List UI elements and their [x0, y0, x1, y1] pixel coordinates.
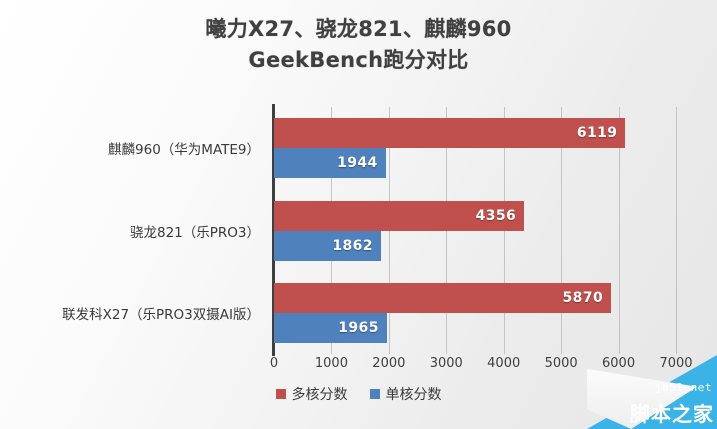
bar-value-label: 6119 [577, 125, 618, 141]
tick-label-1000: 1000 [315, 356, 348, 371]
bar-single-core[interactable]: 1862 [274, 231, 381, 261]
value-axis-tick-labels: 01000200030004000500060007000 [274, 356, 676, 376]
gridline [676, 107, 677, 354]
bar-value-label: 1965 [338, 320, 379, 336]
category-label: 骁龙821（乐PRO3） [130, 221, 260, 241]
category-label: 联发科X27（乐PRO3双摄AI版） [62, 303, 260, 323]
tick-label-6000: 6000 [602, 356, 635, 371]
bar-multi-core[interactable]: 6119 [274, 118, 625, 148]
plot-area: 611919444356186258701965 [274, 107, 676, 354]
tick-label-2000: 2000 [372, 356, 405, 371]
legend-swatch-icon [276, 389, 286, 399]
category-label: 麒麟960（华为MATE9） [108, 138, 260, 158]
tick-label-4000: 4000 [487, 356, 520, 371]
legend-label: 单核分数 [386, 384, 442, 404]
bar-single-core[interactable]: 1965 [274, 313, 387, 343]
legend-label: 多核分数 [292, 384, 348, 404]
category-axis: 麒麟960（华为MATE9）骁龙821（乐PRO3）联发科X27（乐PRO3双摄… [0, 107, 268, 354]
tick-label-3000: 3000 [430, 356, 463, 371]
tick-label-7000: 7000 [659, 356, 692, 371]
bar-value-label: 1944 [337, 155, 378, 171]
chart-title: 曦力X27、骁龙821、麒麟960 GeekBench跑分对比 [0, 14, 717, 76]
chart-legend: 多核分数单核分数 [0, 384, 717, 404]
legend-item-multi-core[interactable]: 多核分数 [276, 384, 348, 404]
bar-multi-core[interactable]: 4356 [274, 201, 524, 231]
tick-label-0: 0 [270, 356, 278, 371]
legend-item-single-core[interactable]: 单核分数 [370, 384, 442, 404]
tick-label-5000: 5000 [545, 356, 578, 371]
chart-container: 曦力X27、骁龙821、麒麟960 GeekBench跑分对比 麒麟960（华为… [0, 0, 717, 429]
bar-value-label: 1862 [332, 238, 373, 254]
legend-swatch-icon [370, 389, 380, 399]
bar-single-core[interactable]: 1944 [274, 148, 386, 178]
bar-multi-core[interactable]: 5870 [274, 283, 611, 313]
chart-title-line-1: 曦力X27、骁龙821、麒麟960 [0, 14, 717, 45]
chart-title-line-2: GeekBench跑分对比 [0, 45, 717, 76]
bar-value-label: 4356 [476, 208, 517, 224]
bar-value-label: 5870 [563, 290, 604, 306]
